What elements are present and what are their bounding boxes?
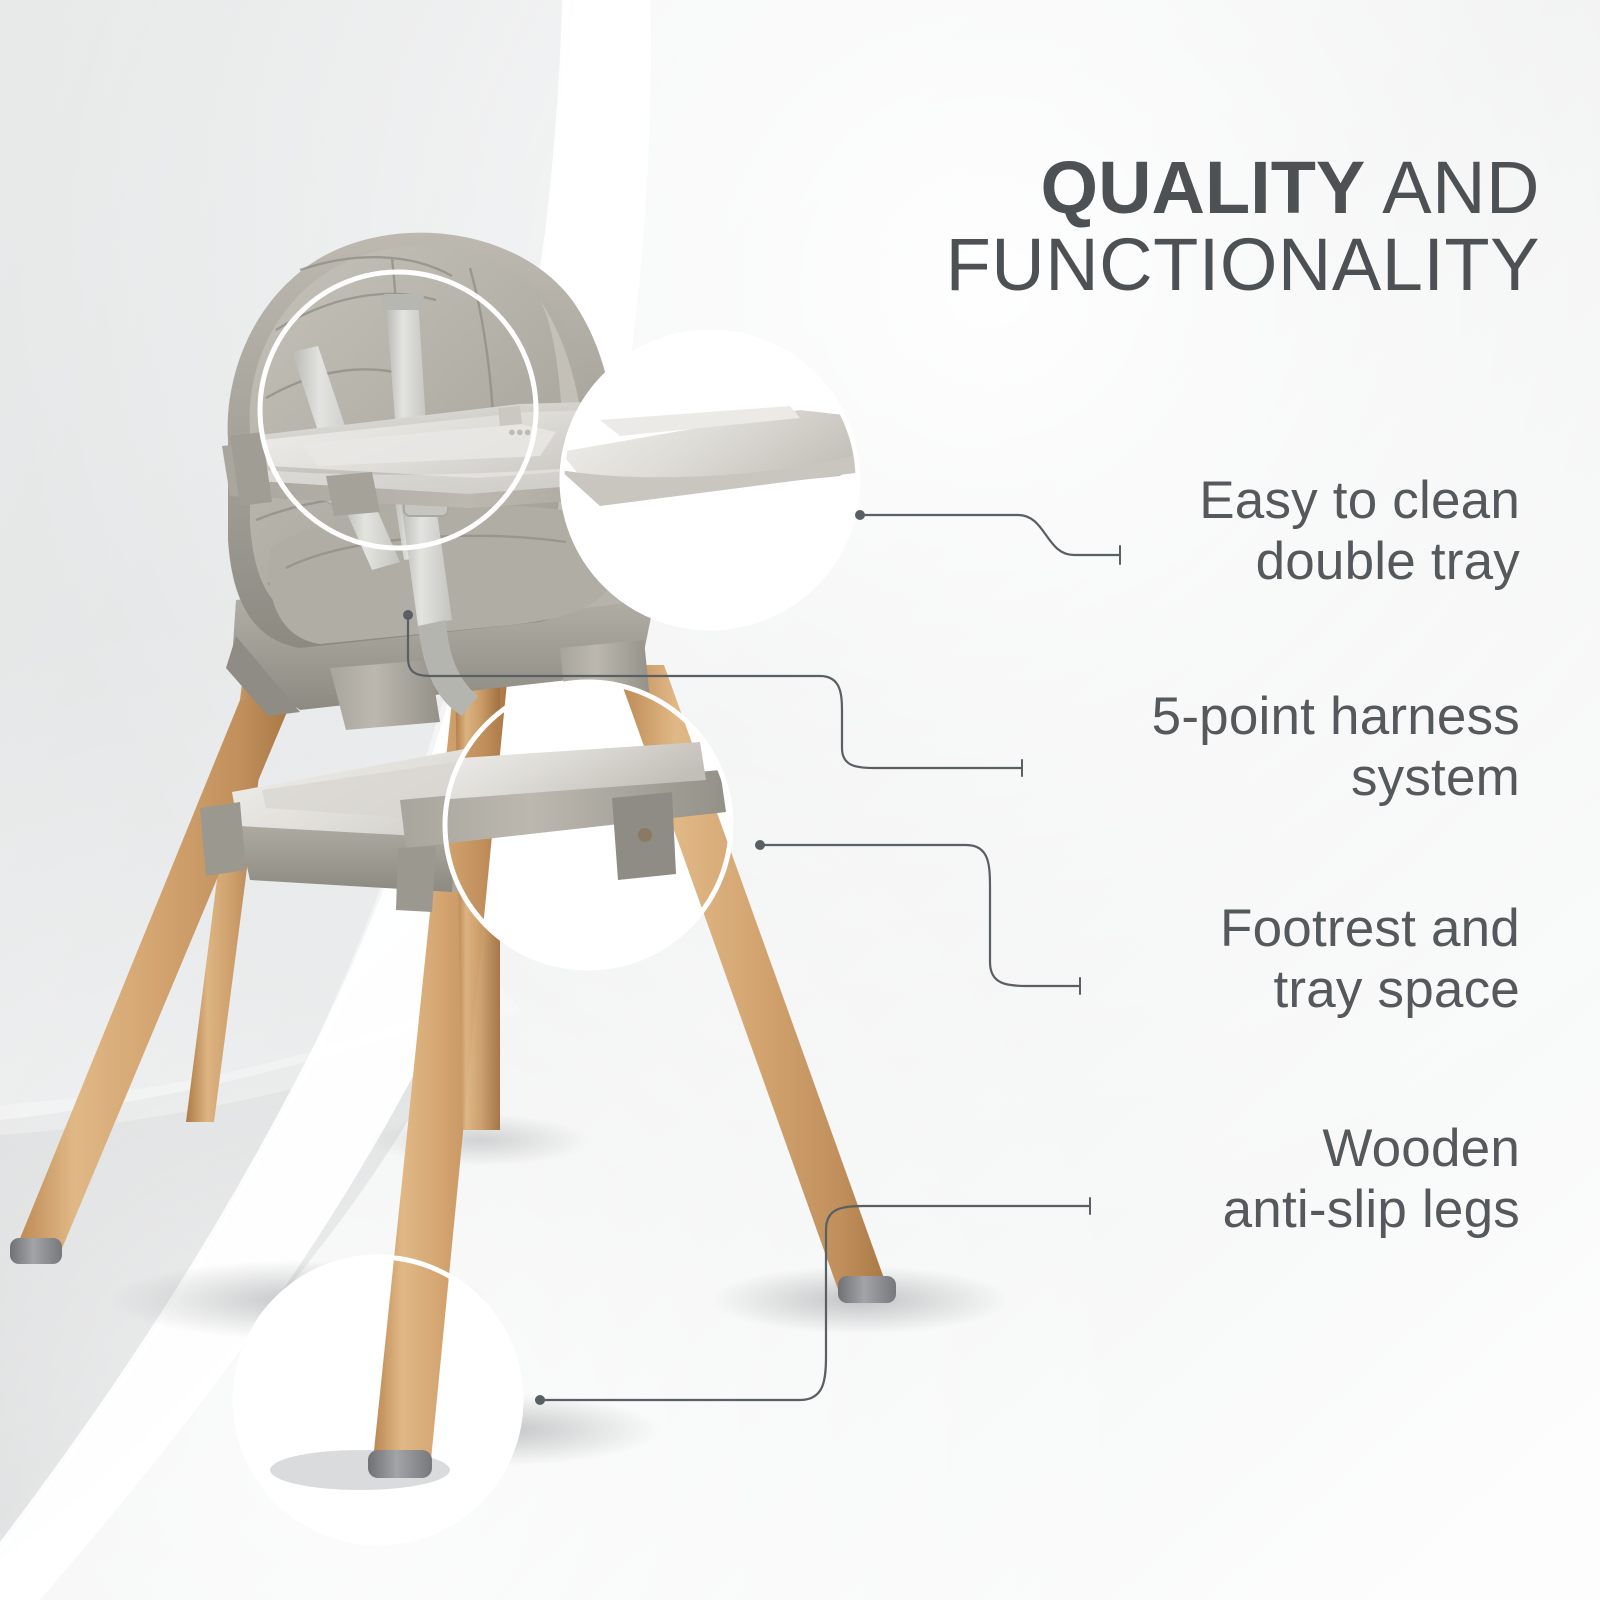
feature-label-line-2: system bbox=[1000, 747, 1520, 808]
feature-label-line-2: double tray bbox=[1000, 531, 1520, 592]
page-title-line-1: QUALITY AND bbox=[780, 150, 1540, 227]
feature-label-line-2: anti-slip legs bbox=[1000, 1179, 1520, 1240]
product-feature-infographic: ●●● bbox=[0, 0, 1600, 1600]
feature-label-footrest-and-tray-space: Footrest and tray space bbox=[1000, 898, 1520, 1021]
feature-label-wooden-anti-slip-legs: Wooden anti-slip legs bbox=[1000, 1118, 1520, 1241]
feature-label-line-1: Footrest and bbox=[1000, 898, 1520, 959]
feature-label-line-1: 5-point harness bbox=[1000, 686, 1520, 747]
page-title-rest: AND bbox=[1365, 146, 1540, 229]
page-title-line-2: FUNCTIONALITY bbox=[780, 227, 1540, 304]
feature-label-line-1: Easy to clean bbox=[1000, 470, 1520, 531]
feature-label-easy-to-clean-double-tray: Easy to clean double tray bbox=[1000, 470, 1520, 593]
feature-label-5-point-harness-system: 5-point harness system bbox=[1000, 686, 1520, 809]
feature-label-line-2: tray space bbox=[1000, 959, 1520, 1020]
leader-line-5-point-harness-system bbox=[403, 610, 1022, 776]
feature-label-line-1: Wooden bbox=[1000, 1118, 1520, 1179]
page-title-strong: QUALITY bbox=[1041, 146, 1366, 229]
page-title: QUALITY AND FUNCTIONALITY bbox=[780, 150, 1540, 304]
